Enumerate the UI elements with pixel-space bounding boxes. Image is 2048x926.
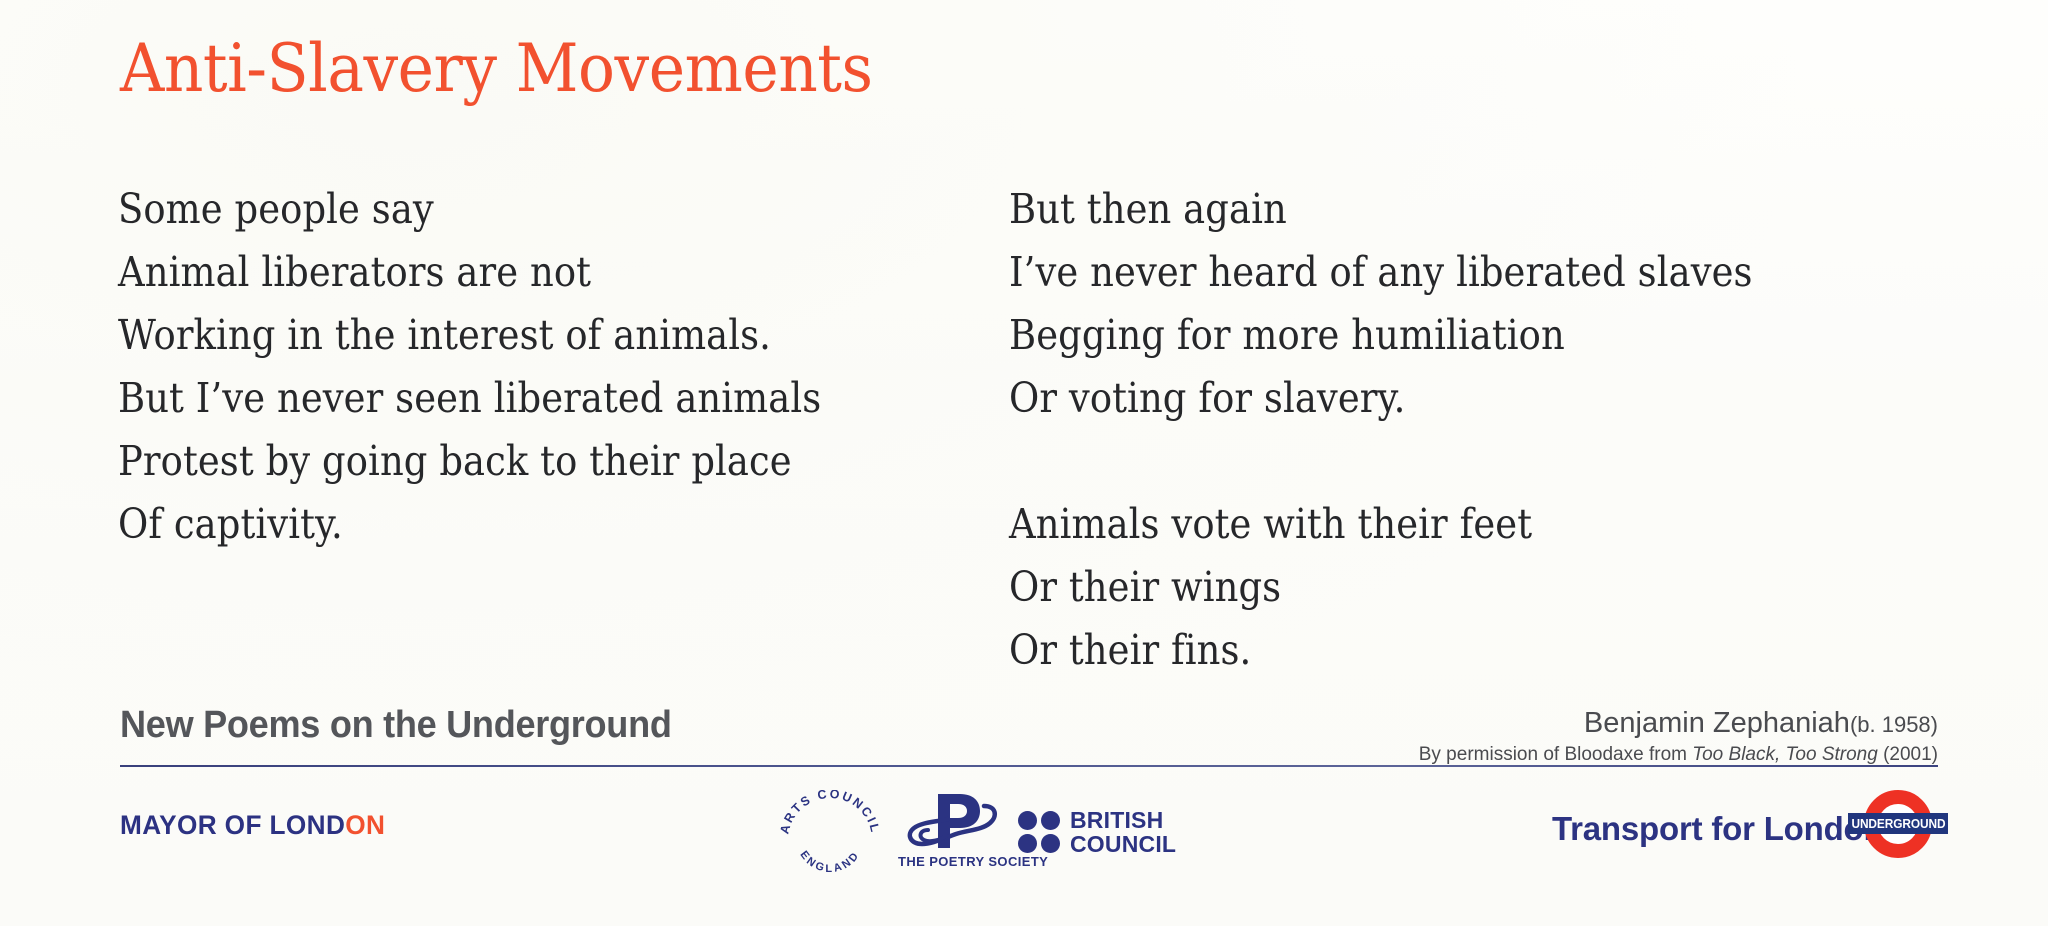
svg-text:ENGLAND: ENGLAND (797, 849, 862, 875)
permission-prefix: By permission of Bloodaxe from (1419, 744, 1693, 765)
poetry-society-logo: THE POETRY SOCIETY (898, 790, 1018, 880)
poem-line: Or their wings (1009, 556, 1854, 619)
poem-line: Animals vote with their feet (1009, 493, 1854, 556)
poem-line: Or voting for slavery. (1009, 367, 1854, 430)
author-line: Benjamin Zephaniah(b. 1958) (1419, 708, 1938, 740)
roundel-label: UNDERGROUND (1851, 817, 1945, 831)
poetry-society-caption: THE POETRY SOCIETY (898, 854, 1018, 869)
british-council-line-1: BRITISH (1070, 808, 1176, 832)
mayor-of-london-accent: ON (345, 810, 385, 840)
arts-council-icon: ARTS COUNCIL ENGLAND (775, 790, 885, 880)
mayor-of-london-primary: MAYOR OF LOND (120, 810, 345, 840)
logo-row: MAYOR OF LONDON ARTS COUNCIL ENGLAND (0, 790, 2048, 890)
poem-line: Begging for more humiliation (1009, 304, 1854, 367)
author-name: Benjamin Zephaniah (1584, 707, 1850, 739)
british-council-wordmark: BRITISH COUNCIL (1070, 808, 1176, 856)
roundel-bar: UNDERGROUND (1848, 813, 1948, 834)
attribution-block: Benjamin Zephaniah(b. 1958) By permissio… (1419, 708, 1938, 766)
page-title: Anti-Slavery Movements (120, 36, 873, 102)
poem-column-right: But then again I’ve never heard of any l… (1009, 178, 1854, 682)
british-council-dot (1041, 811, 1060, 830)
british-council-line-2: COUNCIL (1070, 832, 1176, 856)
british-council-dot (1018, 811, 1037, 830)
poem-column-left: Some people say Animal liberators are no… (118, 178, 920, 682)
poem-line: Of captivity. (118, 493, 920, 556)
poem-line: Protest by going back to their place (118, 430, 920, 493)
stanza: Animals vote with their feet Or their wi… (1009, 493, 1854, 682)
arts-council-england-logo: ARTS COUNCIL ENGLAND (775, 790, 885, 880)
book-title: Too Black, Too Strong (1692, 744, 1878, 765)
poem-line: Some people say (118, 178, 920, 241)
poem-line: Or their fins. (1009, 619, 1854, 682)
poem-body: Some people say Animal liberators are no… (118, 178, 1948, 682)
poem-line: I’ve never heard of any liberated slaves (1009, 241, 1854, 304)
mayor-of-london-logo: MAYOR OF LONDON (120, 810, 385, 841)
stanza: Some people say Animal liberators are no… (118, 178, 920, 556)
transport-for-london-wordmark: Transport for London (1552, 810, 1883, 848)
poem-line: Working in the interest of animals. (118, 304, 920, 367)
permission-line: By permission of Bloodaxe from Too Black… (1419, 744, 1938, 766)
permission-suffix: (2001) (1878, 744, 1938, 765)
poem-line: But I’ve never seen liberated animals (118, 367, 920, 430)
stanza: But then again I’ve never heard of any l… (1009, 178, 1854, 430)
poem-line: But then again (1009, 178, 1854, 241)
author-born: (b. 1958) (1850, 712, 1938, 737)
svg-text:ARTS COUNCIL: ARTS COUNCIL (777, 790, 882, 835)
british-council-logo: BRITISH COUNCIL (1018, 808, 1176, 856)
poetry-society-monogram-icon (898, 790, 1018, 856)
british-council-dot (1041, 834, 1060, 853)
series-title: New Poems on the Underground (120, 704, 672, 747)
poem-poster: Anti-Slavery Movements Some people say A… (0, 0, 2048, 926)
british-council-dot (1018, 834, 1037, 853)
footer-divider (120, 765, 1938, 767)
british-council-dots-icon (1018, 811, 1060, 853)
poem-line: Animal liberators are not (118, 241, 920, 304)
underground-roundel-icon: UNDERGROUND (1848, 786, 1948, 866)
